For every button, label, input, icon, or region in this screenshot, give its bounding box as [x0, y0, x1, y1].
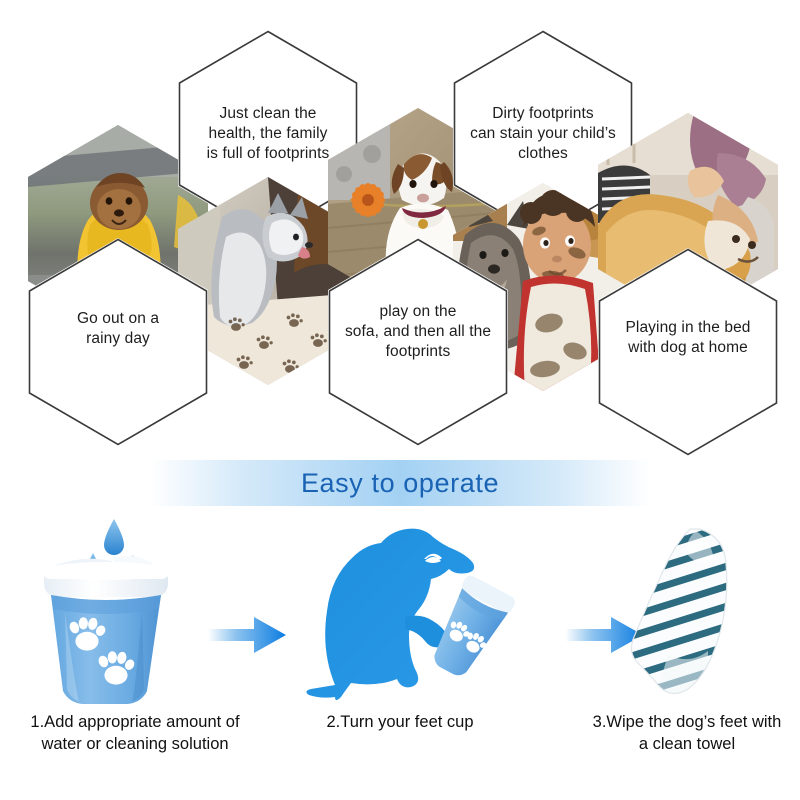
hex-cell-label: Playing in the bed with dog at home	[621, 318, 754, 358]
hex-cell-label: Just clean the health, the family is ful…	[193, 104, 344, 164]
paw-cleaner-cup-illustration	[10, 505, 260, 710]
hex-cell-label: Dirty footprints can stain your child’s …	[464, 104, 622, 164]
step-caption: 3.Wipe the dog’s feet with a clean towel	[550, 711, 800, 756]
step-caption: 2.Turn your feet cup	[275, 711, 525, 733]
step-turn-feet-cup: 2.Turn your feet cup	[275, 505, 525, 800]
hex-cell-label: play on the sofa, and then all the footp…	[341, 302, 495, 362]
step-wipe-with-towel: 3.Wipe the dog’s feet with a clean towel	[550, 505, 800, 800]
steps-section: 1.Add appropriate amount of water or cle…	[0, 505, 800, 800]
easy-to-operate-banner: Easy to operate	[150, 460, 650, 506]
honeycomb-section: Just clean the health, the family is ful…	[0, 0, 800, 450]
step-caption: 1.Add appropriate amount of water or cle…	[10, 711, 260, 756]
banner-title: Easy to operate	[301, 468, 499, 499]
striped-towel-illustration	[550, 505, 800, 710]
hex-cell-label: Go out on a rainy day	[63, 309, 173, 349]
dog-silhouette-with-cup-illustration	[275, 505, 525, 710]
infographic-page: Just clean the health, the family is ful…	[0, 0, 800, 800]
